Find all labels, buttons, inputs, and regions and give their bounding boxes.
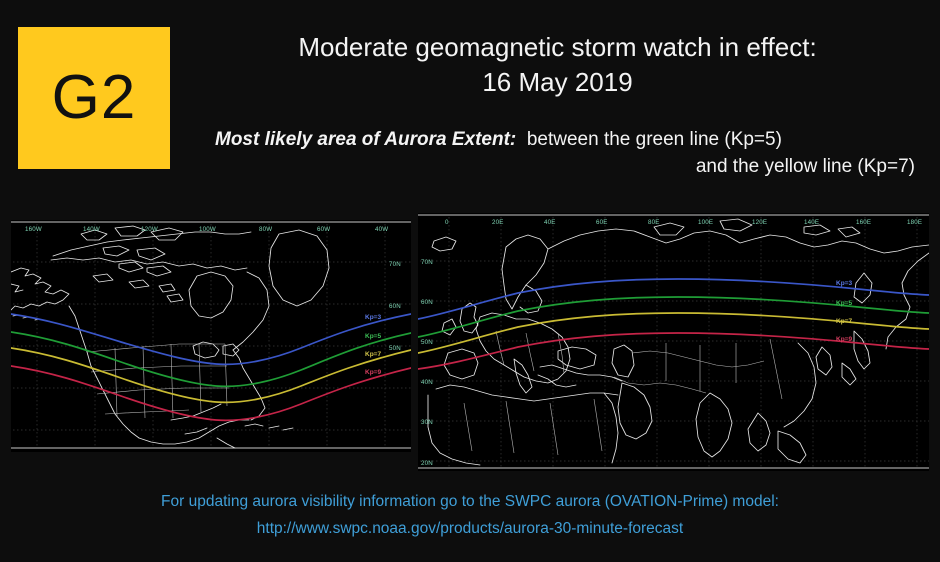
lon-label-100E: 100E bbox=[698, 219, 713, 226]
lon-label-20E: 20E bbox=[492, 219, 504, 226]
kp-label-7: Kp=7 bbox=[365, 351, 381, 358]
lat-label-50N: 50N bbox=[421, 339, 433, 346]
subtitle-emphasis: Most likely area of Aurora Extent: bbox=[215, 129, 516, 150]
eastern-hemisphere-map: Kp=3 Kp=5 Kp=7 Kp=9 0 20E 40E 60E 80E 10… bbox=[418, 213, 929, 471]
kp-line-9 bbox=[418, 333, 929, 369]
subtitle-line-1: Most likely area of Aurora Extent: betwe… bbox=[190, 127, 915, 153]
lon-label-160W: 160W bbox=[25, 226, 42, 233]
lat-label-20N: 20N bbox=[421, 460, 433, 467]
longitude-labels: 160W 140W 120W 100W 80W 60W 40W bbox=[25, 226, 388, 233]
lat-label-30N: 30N bbox=[421, 419, 433, 426]
kp-label-7: Kp=7 bbox=[836, 318, 852, 325]
lat-label-50N: 50N bbox=[389, 345, 401, 352]
subtitle-line-2: and the yellow line (Kp=7) bbox=[190, 153, 915, 181]
lon-label-80E: 80E bbox=[648, 219, 660, 226]
lon-label-140W: 140W bbox=[83, 226, 100, 233]
footer-description: For updating aurora visibility informati… bbox=[0, 488, 940, 515]
latitude-gridlines bbox=[420, 261, 929, 461]
headline-line-1: Moderate geomagnetic storm watch in effe… bbox=[190, 30, 925, 65]
lon-label-60W: 60W bbox=[317, 226, 330, 233]
footer-url-link[interactable]: http://www.swpc.noaa.gov/products/aurora… bbox=[0, 515, 940, 542]
subtitle-block: Most likely area of Aurora Extent: betwe… bbox=[190, 127, 915, 181]
lon-label-160E: 160E bbox=[856, 219, 871, 226]
headline-block: Moderate geomagnetic storm watch in effe… bbox=[190, 30, 925, 100]
aurora-forecast-graphic: G2 Moderate geomagnetic storm watch in e… bbox=[0, 0, 940, 562]
lon-label-120W: 120W bbox=[141, 226, 158, 233]
kp-label-3: Kp=3 bbox=[836, 280, 852, 287]
lon-label-40W: 40W bbox=[375, 226, 388, 233]
kp-label-3: Kp=3 bbox=[365, 314, 381, 321]
g2-storm-level-badge: G2 bbox=[18, 27, 170, 169]
lat-label-70N: 70N bbox=[389, 261, 401, 268]
lat-label-40N: 40N bbox=[421, 379, 433, 386]
subtitle-rest: between the green line (Kp=5) bbox=[527, 129, 782, 150]
kp-labels: Kp=3 Kp=5 Kp=7 Kp=9 bbox=[836, 280, 852, 343]
lon-label-60E: 60E bbox=[596, 219, 608, 226]
lon-label-0: 0 bbox=[445, 219, 449, 226]
kp-line-5 bbox=[418, 297, 929, 337]
map-panel-western-hemisphere: Kp=3 Kp=5 Kp=7 Kp=9 160W 140W 120W 100W … bbox=[11, 220, 411, 452]
kp-label-5: Kp=5 bbox=[836, 300, 852, 307]
lat-label-60N: 60N bbox=[421, 299, 433, 306]
western-hemisphere-map: Kp=3 Kp=5 Kp=7 Kp=9 160W 140W 120W 100W … bbox=[11, 220, 411, 452]
state-borders bbox=[87, 344, 229, 418]
kp-label-5: Kp=5 bbox=[365, 333, 381, 340]
kp-label-9: Kp=9 bbox=[836, 336, 852, 343]
lon-label-40E: 40E bbox=[544, 219, 556, 226]
lat-label-70N: 70N bbox=[421, 259, 433, 266]
lon-label-100W: 100W bbox=[199, 226, 216, 233]
longitude-labels: 0 20E 40E 60E 80E 100E 120E 140E 160E 18… bbox=[445, 219, 922, 226]
map-panel-eastern-hemisphere: Kp=3 Kp=5 Kp=7 Kp=9 0 20E 40E 60E 80E 10… bbox=[418, 213, 929, 471]
headline-line-2: 16 May 2019 bbox=[190, 65, 925, 100]
header-section: G2 Moderate geomagnetic storm watch in e… bbox=[0, 0, 940, 210]
kp-label-9: Kp=9 bbox=[365, 369, 381, 376]
lon-label-180E: 180E bbox=[907, 219, 922, 226]
lon-label-120E: 120E bbox=[752, 219, 767, 226]
lat-label-60N: 60N bbox=[389, 303, 401, 310]
lon-label-140E: 140E bbox=[804, 219, 819, 226]
kp-contour-lines bbox=[418, 279, 929, 369]
footer-section: For updating aurora visibility informati… bbox=[0, 488, 940, 542]
lon-label-80W: 80W bbox=[259, 226, 272, 233]
latitude-labels: 70N 60N 50N 40N 30N 20N bbox=[421, 259, 433, 467]
g2-badge-label: G2 bbox=[52, 67, 137, 129]
coastlines bbox=[11, 226, 329, 448]
